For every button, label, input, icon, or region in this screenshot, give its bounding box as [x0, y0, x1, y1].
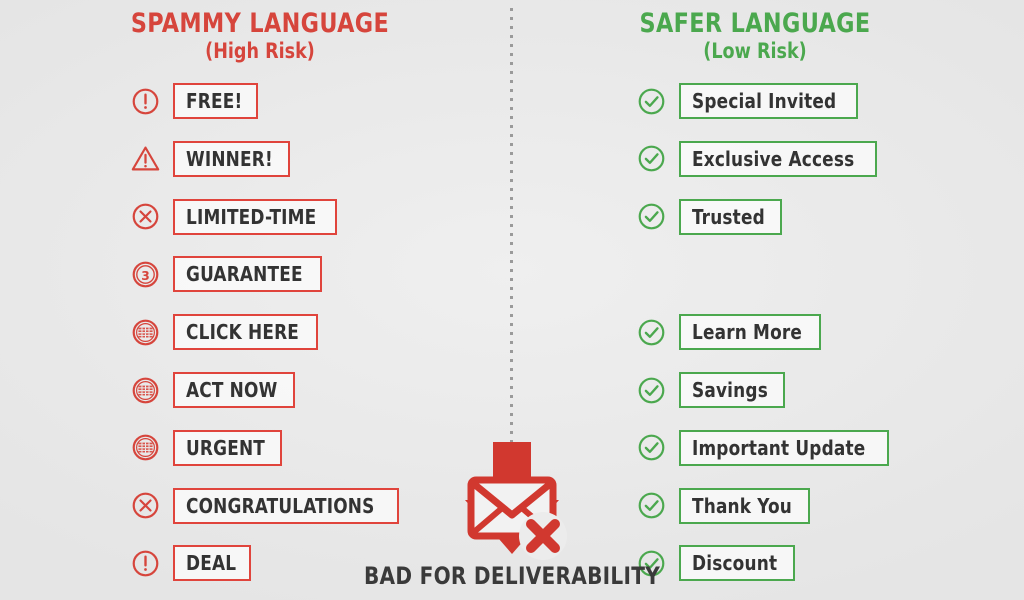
keyword-pill[interactable]: LIMITED-TIME [173, 199, 337, 235]
keyword-pill[interactable]: Trusted [679, 199, 782, 235]
list-item[interactable]: Savings [637, 370, 785, 410]
keyword-pill[interactable]: URGENT [173, 430, 282, 466]
circle-check-icon [637, 318, 666, 347]
list-item[interactable]: Special Invited [637, 81, 858, 121]
keyword-pill[interactable]: GUARANTEE [173, 256, 322, 292]
circle-number-three-icon [131, 260, 160, 289]
list-item[interactable]: CLICK HERE [131, 312, 318, 352]
keyword-pill[interactable]: Special Invited [679, 83, 858, 119]
list-item[interactable]: URGENT [131, 428, 282, 468]
keyword-label: Savings [692, 378, 768, 402]
circle-exclamation-icon [131, 549, 160, 578]
keyword-pill[interactable]: Important Update [679, 430, 889, 466]
keyword-label: Discount [692, 551, 777, 575]
warning-triangle-icon [131, 144, 160, 173]
keyword-label: CLICK HERE [186, 320, 299, 344]
circle-x-icon [131, 202, 160, 231]
circle-check-icon [637, 144, 666, 173]
keyword-label: DEAL [186, 551, 236, 575]
keyword-label: URGENT [186, 436, 265, 460]
circle-check-icon [637, 491, 666, 520]
spammy-language-title: SPAMMY LANGUAGE [76, 10, 444, 38]
keyword-label: Important Update [692, 436, 865, 460]
list-item[interactable]: Thank You [637, 486, 810, 526]
keyword-pill[interactable]: ACT NOW [173, 372, 295, 408]
keyword-pill[interactable]: WINNER! [173, 141, 290, 177]
list-item[interactable]: WINNER! [131, 139, 290, 179]
keyword-label: GUARANTEE [186, 262, 303, 286]
keyword-pill[interactable]: FREE! [173, 83, 258, 119]
circle-check-icon [637, 202, 666, 231]
list-item[interactable]: Learn More [637, 312, 821, 352]
list-item[interactable]: Important Update [637, 428, 889, 468]
circle-exclamation-icon [131, 87, 160, 116]
infographic-canvas: SPAMMY LANGUAGE (High Risk) SAFER LANGUA… [0, 0, 1024, 600]
list-item[interactable]: Trusted [637, 197, 782, 237]
safer-language-header: SAFER LANGUAGE (Low Risk) [555, 10, 955, 65]
keyword-pill[interactable]: Exclusive Access [679, 141, 877, 177]
keyword-label: LIMITED-TIME [186, 205, 316, 229]
list-item[interactable]: DEAL [131, 543, 251, 583]
spammy-language-subtitle: (High Risk) [74, 38, 446, 64]
keyword-label: FREE! [186, 89, 242, 113]
keyword-pill[interactable]: CLICK HERE [173, 314, 318, 350]
spammy-language-header: SPAMMY LANGUAGE (High Risk) [60, 10, 460, 65]
list-item[interactable]: LIMITED-TIME [131, 197, 337, 237]
deliverability-caption: BAD FOR DELIVERABILITY [326, 562, 698, 590]
keyword-label: Special Invited [692, 89, 836, 113]
list-item[interactable]: ACT NOW [131, 370, 295, 410]
circle-check-icon [637, 87, 666, 116]
list-item[interactable]: Exclusive Access [637, 139, 877, 179]
keyword-label: Thank You [692, 494, 792, 518]
safer-language-title: SAFER LANGUAGE [571, 10, 939, 38]
keyword-label: ACT NOW [186, 378, 277, 402]
list-item[interactable]: FREE! [131, 81, 258, 121]
keyword-label: WINNER! [186, 147, 273, 171]
vertical-dotted-divider [510, 8, 513, 448]
keyword-label: Learn More [692, 320, 802, 344]
keyword-label: CONGRATULATIONS [186, 494, 375, 518]
list-item[interactable]: GUARANTEE [131, 254, 322, 294]
circle-check-icon [637, 376, 666, 405]
keyword-pill[interactable]: Learn More [679, 314, 821, 350]
keyword-pill[interactable]: Savings [679, 372, 785, 408]
keyword-label: Exclusive Access [692, 147, 854, 171]
keyword-pill[interactable]: CONGRATULATIONS [173, 488, 399, 524]
envelope-down-arrow-rejected-icon [447, 442, 577, 562]
circle-x-icon [131, 491, 160, 520]
keyword-pill[interactable]: DEAL [173, 545, 251, 581]
keyword-label: Trusted [692, 205, 765, 229]
list-item[interactable]: CONGRATULATIONS [131, 486, 399, 526]
safer-language-subtitle: (Low Risk) [569, 38, 941, 64]
countdown-timer-icon [131, 376, 160, 405]
countdown-timer-icon [131, 433, 160, 462]
keyword-pill[interactable]: Thank You [679, 488, 810, 524]
circle-check-icon [637, 433, 666, 462]
countdown-timer-icon [131, 318, 160, 347]
